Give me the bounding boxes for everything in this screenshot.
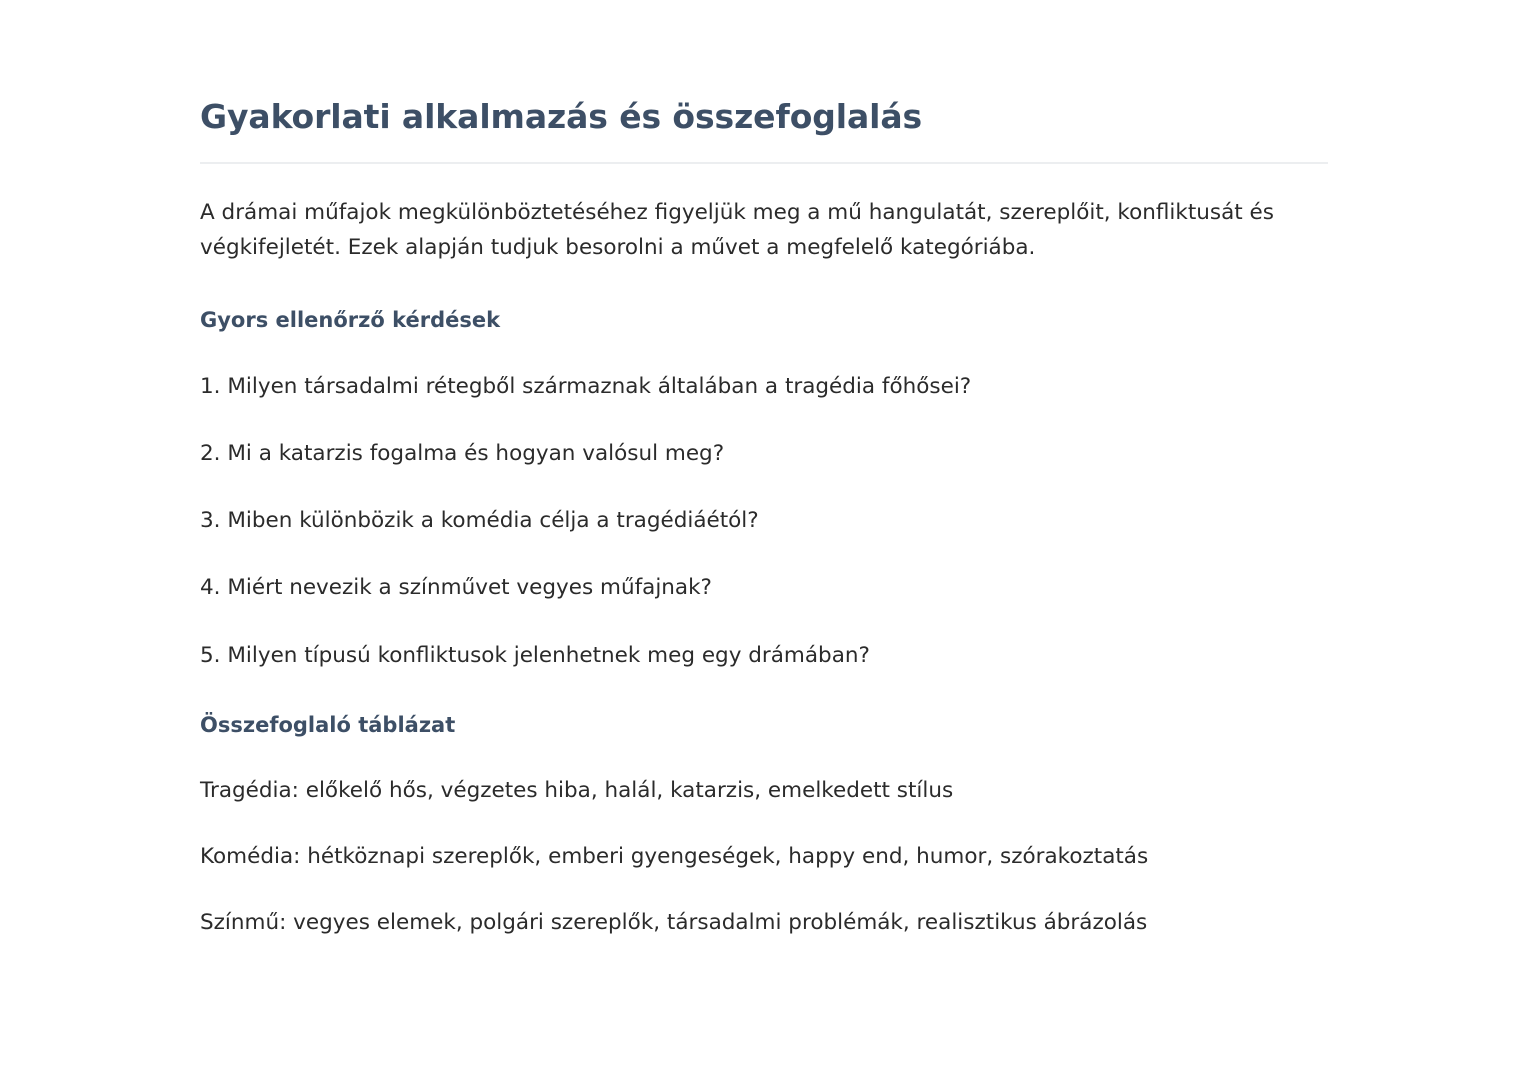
summary-item: Komédia: hétköznapi szereplők, emberi gy… [200,842,1328,872]
intro-paragraph: A drámai műfajok megkülönböztetéséhez fi… [200,195,1312,266]
section-heading-summary-table: Összefoglaló táblázat [200,711,1328,740]
question-item: 1. Milyen társadalmi rétegből származnak… [200,372,1328,402]
summary-item: Színmű: vegyes elemek, polgári szereplők… [200,908,1328,938]
summary-list: Tragédia: előkelő hős, végzetes hiba, ha… [200,776,1328,938]
question-item: 4. Miért nevezik a színművet vegyes műfa… [200,573,1328,603]
summary-item: Tragédia: előkelő hős, végzetes hiba, ha… [200,776,1328,806]
title-divider [200,162,1328,164]
section-heading-quick-check: Gyors ellenőrző kérdések [200,306,1328,335]
quick-check-question-list: 1. Milyen társadalmi rétegből származnak… [200,372,1328,670]
question-item: 3. Miben különbözik a komédia célja a tr… [200,506,1328,536]
question-item: 2. Mi a katarzis fogalma és hogyan valós… [200,439,1328,469]
question-item: 5. Milyen típusú konfliktusok jelenhetne… [200,641,1328,671]
page-title: Gyakorlati alkalmazás és összefoglalás [200,96,1328,140]
document-page: Gyakorlati alkalmazás és összefoglalás A… [0,0,1527,1080]
